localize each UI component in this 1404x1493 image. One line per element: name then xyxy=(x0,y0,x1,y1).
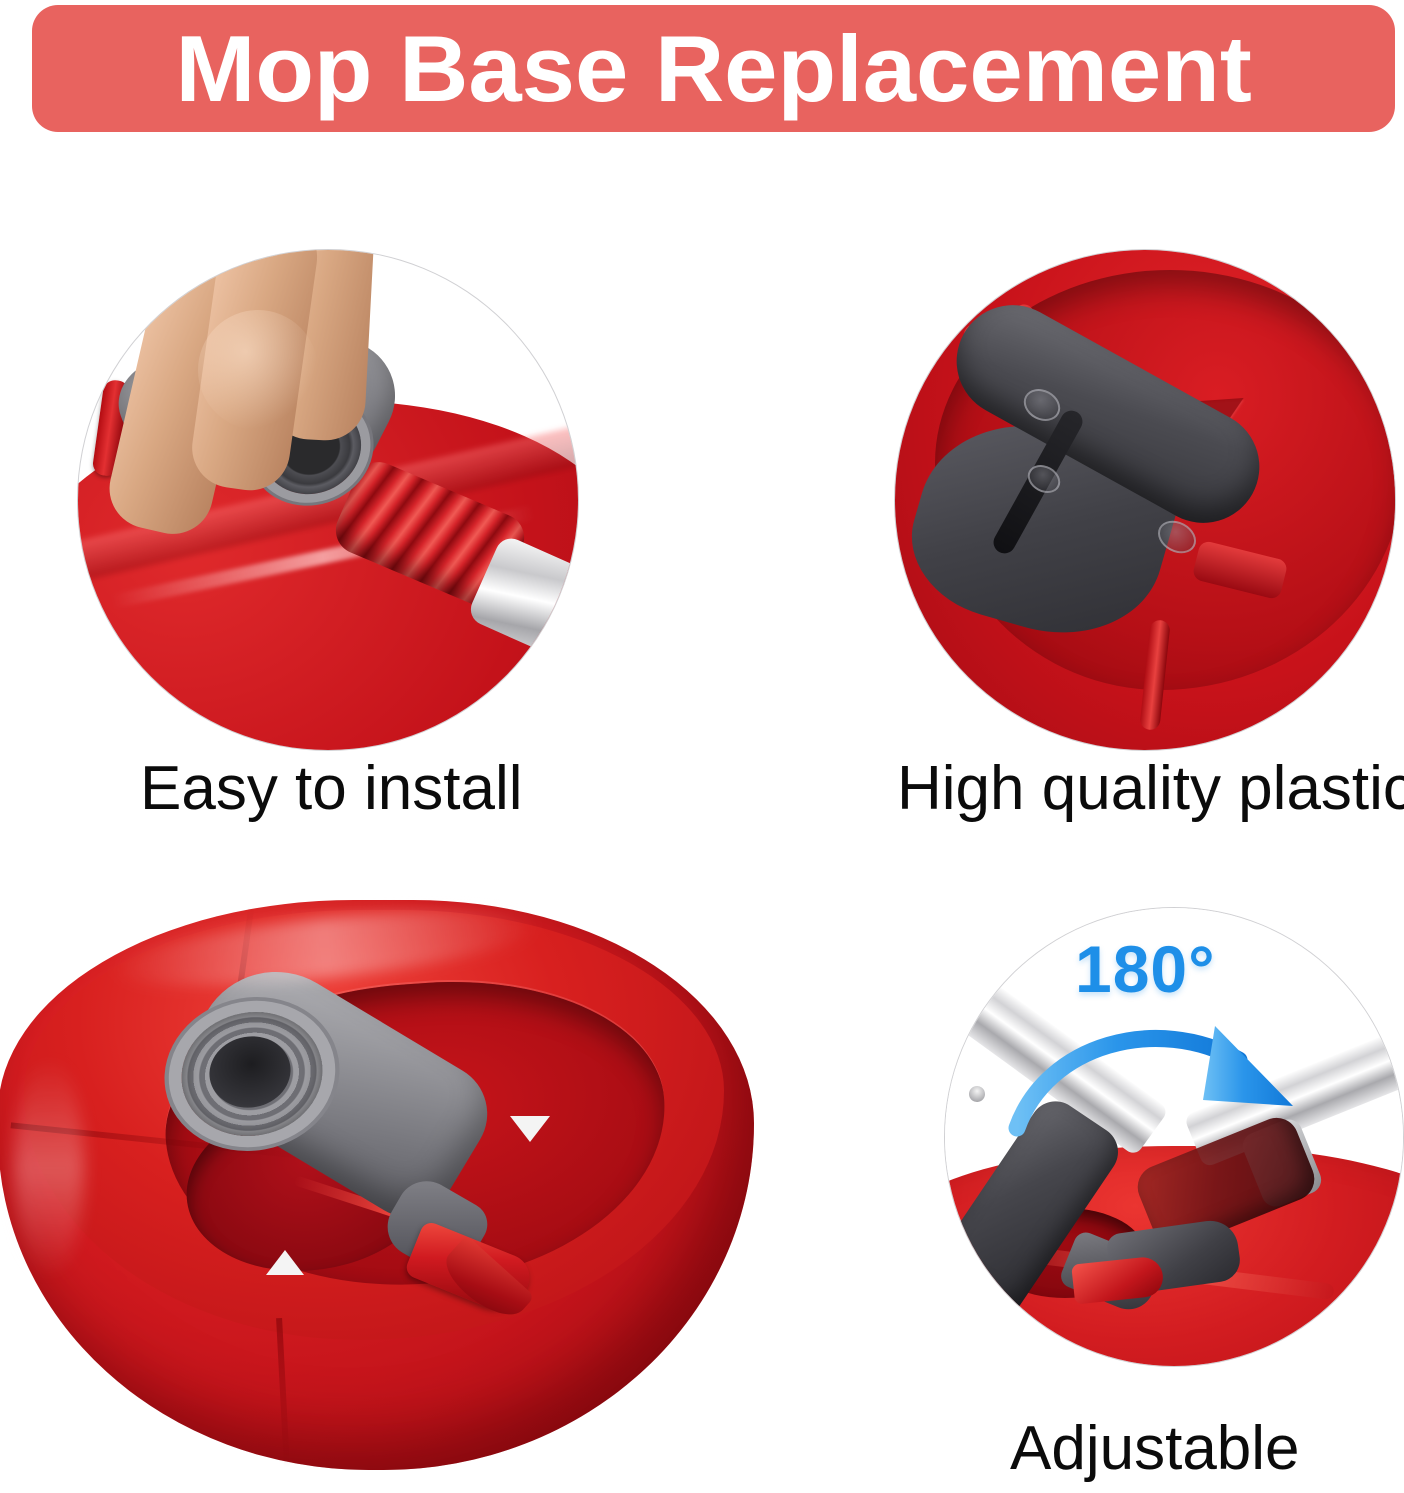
caption-easy-install: Easy to install xyxy=(140,758,523,820)
caption-adjustable: Adjustable xyxy=(1010,1418,1300,1480)
product-photo-easy-install xyxy=(78,250,578,750)
rotation-arrow-icon xyxy=(1007,1008,1347,1188)
caption-high-quality: High quality plastics xyxy=(897,758,1404,820)
hand-highlight xyxy=(198,310,318,430)
gloss-highlight xyxy=(14,1058,84,1278)
product-photo-hero xyxy=(0,888,780,1493)
degree-badge-label: 180° xyxy=(1075,936,1216,1002)
product-photo-high-quality xyxy=(895,250,1395,750)
product-photo-adjustable: 180° xyxy=(945,908,1403,1366)
triangle-marker xyxy=(266,1250,304,1275)
page-title: Mop Base Replacement xyxy=(175,22,1251,116)
header-banner: Mop Base Replacement xyxy=(32,5,1395,132)
triangle-marker xyxy=(510,1116,550,1142)
